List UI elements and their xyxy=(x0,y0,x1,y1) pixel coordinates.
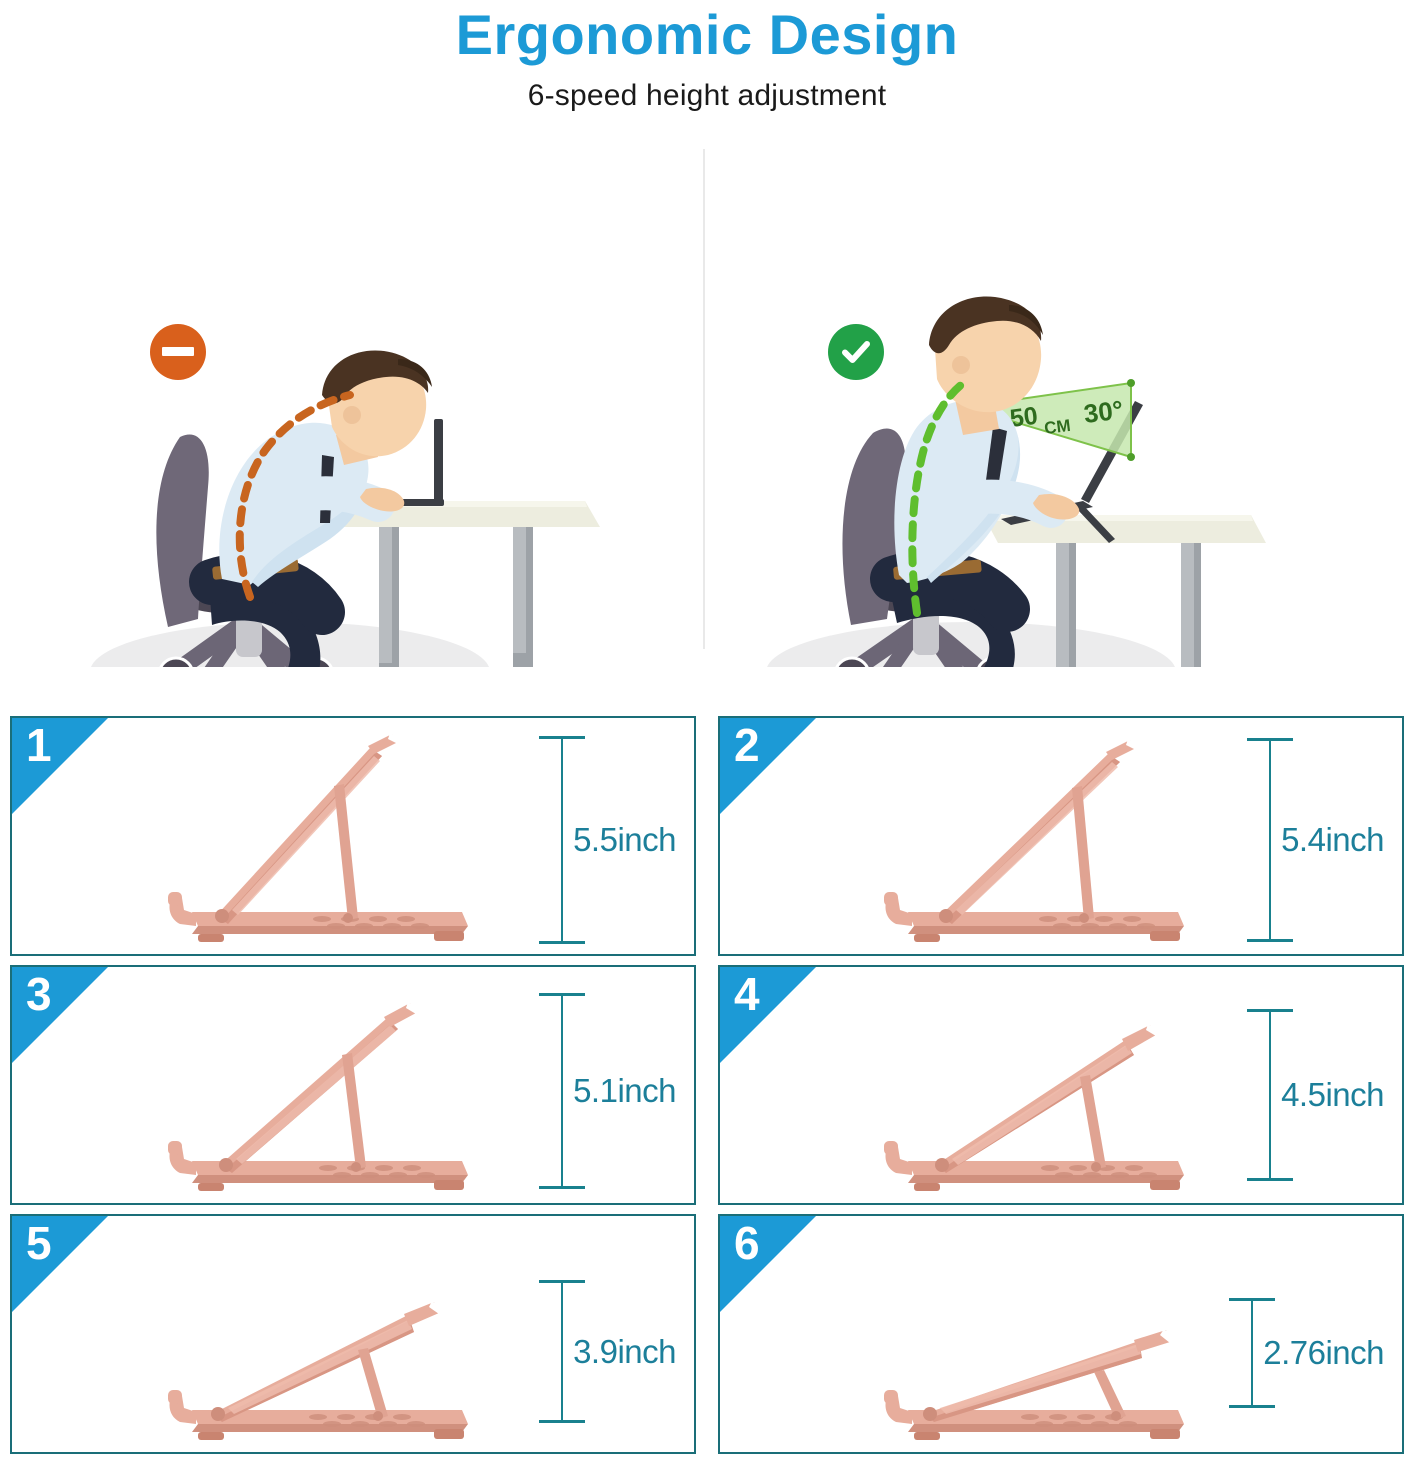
height-label-5: 3.9inch xyxy=(573,1333,676,1371)
cone-distance-unit: CM xyxy=(1043,416,1072,438)
height-dimension-1: 5.5inch xyxy=(561,736,676,944)
laptop-stand-illustration-6 xyxy=(840,1224,1240,1452)
height-dimension-2: 5.4inch xyxy=(1269,738,1384,942)
page-header: Ergonomic Design 6-speed height adjustme… xyxy=(0,0,1414,113)
laptop-stand-illustration-5 xyxy=(132,1224,532,1452)
page-title: Ergonomic Design xyxy=(0,6,1414,65)
height-label-1: 5.5inch xyxy=(573,821,676,859)
dimension-bar-2 xyxy=(1269,738,1271,942)
posture-comparison: 50 CM 30° xyxy=(0,127,1414,667)
dimension-bar-1 xyxy=(561,736,563,944)
panel-number-1: 1 xyxy=(26,722,52,768)
height-panel-1[interactable]: 1 xyxy=(10,716,696,956)
dimension-bar-5 xyxy=(561,1280,563,1423)
dimension-bar-6 xyxy=(1251,1298,1253,1408)
height-label-3: 5.1inch xyxy=(573,1072,676,1110)
panel-number-3: 3 xyxy=(26,971,52,1017)
laptop-stand-illustration-2 xyxy=(840,726,1240,954)
height-dimension-6: 2.76inch xyxy=(1251,1298,1384,1408)
laptop-stand-illustration-1 xyxy=(132,726,532,954)
height-panel-6[interactable]: 6 xyxy=(718,1214,1404,1454)
height-label-6: 2.76inch xyxy=(1263,1334,1384,1372)
height-dimension-3: 5.1inch xyxy=(561,993,676,1189)
good-posture-illustration: 50 CM 30° xyxy=(711,127,1414,667)
height-dimension-5: 3.9inch xyxy=(561,1280,676,1423)
panel-number-5: 5 xyxy=(26,1220,52,1266)
height-label-4: 4.5inch xyxy=(1281,1076,1384,1114)
panel-row-1: 1 xyxy=(0,716,1414,956)
dimension-bar-4 xyxy=(1269,1009,1271,1181)
panel-row-2: 3 xyxy=(0,965,1414,1205)
laptop-stand-illustration-3 xyxy=(132,975,532,1203)
bad-posture-illustration xyxy=(0,127,703,667)
height-panel-4[interactable]: 4 xyxy=(718,965,1404,1205)
page-subtitle: 6-speed height adjustment xyxy=(0,79,1414,113)
panel-number-2: 2 xyxy=(734,722,760,768)
bad-posture-scene xyxy=(0,127,703,667)
height-label-2: 5.4inch xyxy=(1281,821,1384,859)
panel-number-6: 6 xyxy=(734,1220,760,1266)
height-settings-grid: 1 xyxy=(0,716,1414,1463)
height-panel-2[interactable]: 2 xyxy=(718,716,1404,956)
panel-row-3: 5 xyxy=(0,1214,1414,1454)
cone-angle-label: 30° xyxy=(1082,394,1125,429)
height-panel-3[interactable]: 3 xyxy=(10,965,696,1205)
height-dimension-4: 4.5inch xyxy=(1269,1009,1384,1181)
height-panel-5[interactable]: 5 xyxy=(10,1214,696,1454)
laptop-stand-illustration-4 xyxy=(840,975,1240,1203)
dimension-bar-3 xyxy=(561,993,563,1189)
good-posture-scene: 50 CM 30° xyxy=(711,127,1414,667)
panel-number-4: 4 xyxy=(734,971,760,1017)
comparison-divider xyxy=(703,149,705,649)
